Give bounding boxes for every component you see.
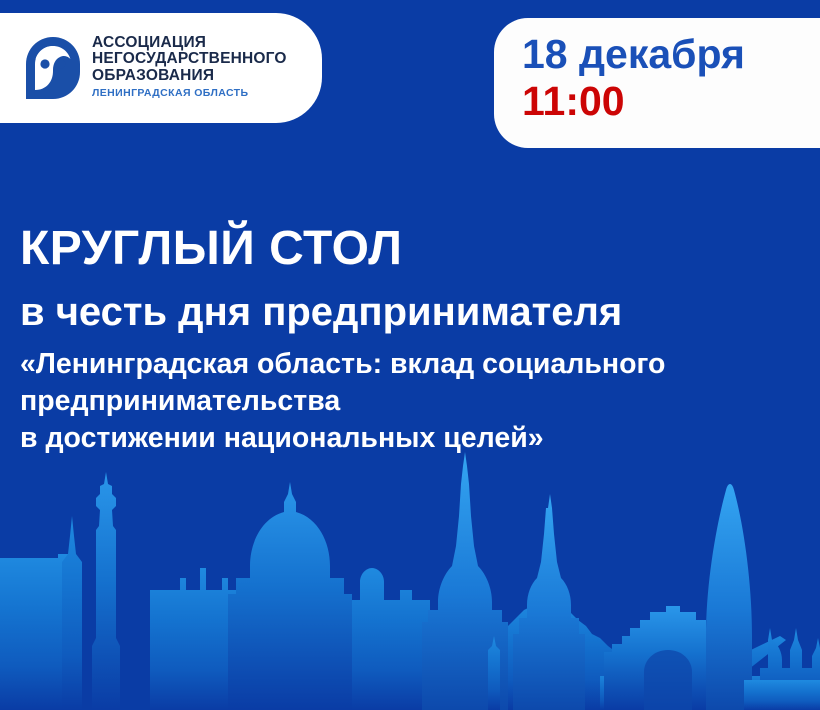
cable-bridge-icon <box>632 630 786 710</box>
skyline-left-block <box>0 554 70 710</box>
event-date-card: 18 декабря 11:00 <box>494 18 820 148</box>
skyline-rostral-cluster <box>508 600 620 710</box>
event-time: 11:00 <box>522 78 820 124</box>
logo-line-3: ОБРАЗОВАНИЯ <box>92 68 287 85</box>
logo-text-block: АССОЦИАЦИЯ НЕГОСУДАРСТВЕННОГО ОБРАЗОВАНИ… <box>92 35 287 102</box>
skyline-mid-roofline <box>150 568 250 710</box>
page-title: КРУГЛЫЙ СТОЛ <box>20 222 810 276</box>
skyline-illustration <box>0 450 820 710</box>
arch-opening <box>644 650 692 710</box>
headline-block: КРУГЛЫЙ СТОЛ в честь дня предпринимателя… <box>20 222 810 457</box>
quote-line-1: «Ленинградская область: вклад социальног… <box>20 346 810 383</box>
association-logo-card: АССОЦИАЦИЯ НЕГОСУДАРСТВЕННОГО ОБРАЗОВАНИ… <box>0 13 322 123</box>
alexander-column-icon <box>92 472 120 710</box>
triumphal-arch-icon <box>604 606 742 710</box>
logo-region-label: ЛЕНИНГРАДСКАЯ ОБЛАСТЬ <box>92 86 287 101</box>
lakhta-center-icon <box>706 484 752 710</box>
skyline-small-spire <box>62 516 82 710</box>
page-subtitle: в честь дня предпринимателя <box>20 288 810 336</box>
saint-isaacs-cathedral-icon <box>228 482 352 710</box>
skyline-obelisk <box>488 636 500 710</box>
skyline-small-domes <box>352 568 430 710</box>
logo-line-1: АССОЦИАЦИЯ <box>92 35 287 52</box>
skyline-right-domes <box>760 628 820 710</box>
quote-line-3: в достижении национальных целей» <box>20 420 810 457</box>
quote-line-2: предпринимательства <box>20 383 810 420</box>
skyline-right-base <box>744 680 820 710</box>
admiralty-spire-icon <box>422 452 508 710</box>
event-poster: АССОЦИАЦИЯ НЕГОСУДАРСТВЕННОГО ОБРАЗОВАНИ… <box>0 0 820 710</box>
event-date: 18 декабря <box>522 30 820 78</box>
fortress-spire-icon <box>513 494 585 710</box>
quote-block: «Ленинградская область: вклад социальног… <box>20 346 810 457</box>
owl-icon <box>26 37 80 99</box>
bridge-deck <box>600 676 820 710</box>
logo-line-2: НЕГОСУДАРСТВЕННОГО <box>92 51 287 68</box>
